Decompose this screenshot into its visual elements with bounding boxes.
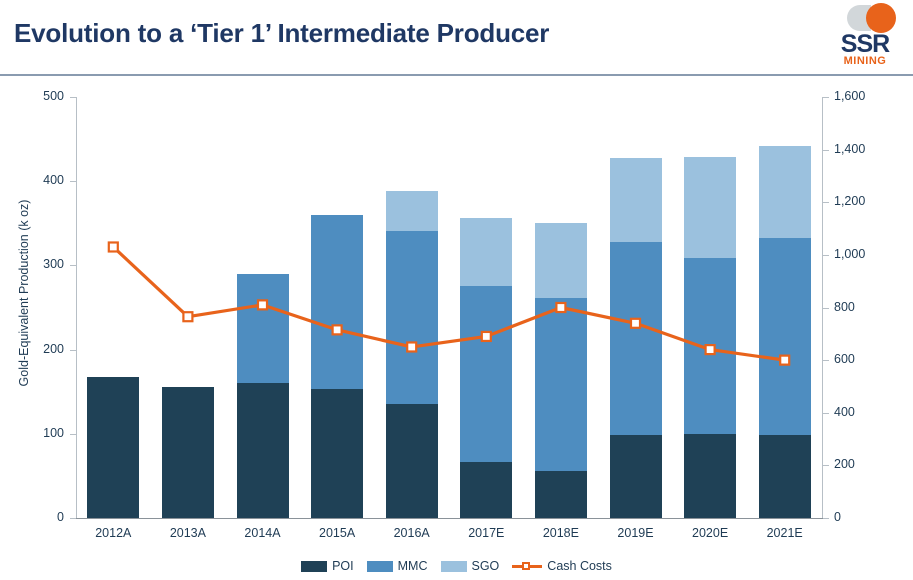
y-axis-right-tick-label: 800 — [834, 301, 894, 313]
plot-area — [76, 97, 822, 518]
x-axis-label-2012a: 2012A — [73, 526, 153, 540]
legend-item-mmc[interactable]: MMC — [367, 560, 428, 573]
y-axis-left-title: Gold-Equivalent Production (k oz) — [17, 173, 31, 413]
y-axis-right-tick-label: 0 — [834, 511, 894, 523]
cash-costs-marker-2020e[interactable] — [706, 345, 715, 354]
y-axis-right-tick — [823, 150, 829, 151]
y-axis-right-tick — [823, 518, 829, 519]
cash-costs-marker-2021e[interactable] — [780, 356, 789, 365]
legend-item-sgo[interactable]: SGO — [441, 560, 500, 573]
cash-costs-marker-2012a[interactable] — [109, 242, 118, 251]
y-axis-left-tick-label: 500 — [8, 90, 64, 102]
page-title: Evolution to a ‘Tier 1’ Intermediate Pro… — [14, 18, 549, 49]
chart-legend: POIMMCSGOCash Costs — [0, 555, 913, 577]
y-axis-right-tick — [823, 360, 829, 361]
cash-costs-marker-2018e[interactable] — [556, 303, 565, 312]
legend-label: MMC — [398, 560, 428, 573]
cash-costs-marker-2016a[interactable] — [407, 342, 416, 351]
y-axis-left-tick-label: 0 — [8, 511, 64, 523]
x-axis-label-2021e: 2021E — [745, 526, 825, 540]
legend-line-icon — [512, 561, 542, 572]
y-axis-right-tick — [823, 255, 829, 256]
legend-item-poi[interactable]: POI — [301, 560, 354, 573]
x-axis-label-2020e: 2020E — [670, 526, 750, 540]
logo-wordmark: SSR — [825, 31, 905, 57]
x-axis-label-2013a: 2013A — [148, 526, 228, 540]
x-axis-label-2018e: 2018E — [521, 526, 601, 540]
cash-costs-marker-2017e[interactable] — [482, 332, 491, 341]
x-axis-label-2014a: 2014A — [223, 526, 303, 540]
y-axis-right-tick-label: 1,400 — [834, 143, 894, 155]
y-axis-right-tick — [823, 465, 829, 466]
y-axis-right-tick — [823, 413, 829, 414]
legend-square-marker-icon — [522, 562, 530, 570]
x-axis-label-2017e: 2017E — [446, 526, 526, 540]
logo-tagline: MINING — [825, 55, 905, 67]
y-axis-right-tick — [823, 97, 829, 98]
x-axis-label-2015a: 2015A — [297, 526, 377, 540]
cash-costs-marker-2019e[interactable] — [631, 319, 640, 328]
cash-costs-marker-2014a[interactable] — [258, 300, 267, 309]
legend-item-cash-costs[interactable]: Cash Costs — [512, 560, 612, 573]
cash-costs-marker-2015a[interactable] — [333, 325, 342, 334]
y-axis-right-tick — [823, 202, 829, 203]
y-axis-left-tick-label: 100 — [8, 427, 64, 439]
y-axis-right-tick-label: 200 — [834, 458, 894, 470]
y-axis-right-tick-label: 600 — [834, 353, 894, 365]
legend-swatch-icon — [367, 561, 393, 572]
x-axis-label-2019e: 2019E — [596, 526, 676, 540]
y-axis-left-tick — [70, 518, 76, 519]
y-axis-right-tick-label: 1,200 — [834, 195, 894, 207]
circle-icon — [866, 3, 896, 33]
legend-label: POI — [332, 560, 354, 573]
cash-costs-line — [113, 247, 784, 360]
legend-label: Cash Costs — [547, 560, 612, 573]
y-axis-right-tick — [823, 308, 829, 309]
y-axis-right-tick-label: 400 — [834, 406, 894, 418]
slide-header: Evolution to a ‘Tier 1’ Intermediate Pro… — [0, 0, 913, 74]
cash-costs-marker-2013a[interactable] — [183, 312, 192, 321]
logo-mark — [847, 3, 899, 33]
ssr-mining-logo: SSR MINING — [825, 3, 905, 71]
x-axis-line — [76, 518, 823, 519]
x-axis-label-2016a: 2016A — [372, 526, 452, 540]
y-axis-right-tick-label: 1,600 — [834, 90, 894, 102]
legend-label: SGO — [472, 560, 500, 573]
cash-costs-line-layer — [76, 97, 822, 518]
legend-swatch-icon — [441, 561, 467, 572]
y-axis-right-tick-label: 1,000 — [834, 248, 894, 260]
legend-swatch-icon — [301, 561, 327, 572]
chart-container: 0100200300400500 02004006008001,0001,200… — [0, 76, 913, 580]
